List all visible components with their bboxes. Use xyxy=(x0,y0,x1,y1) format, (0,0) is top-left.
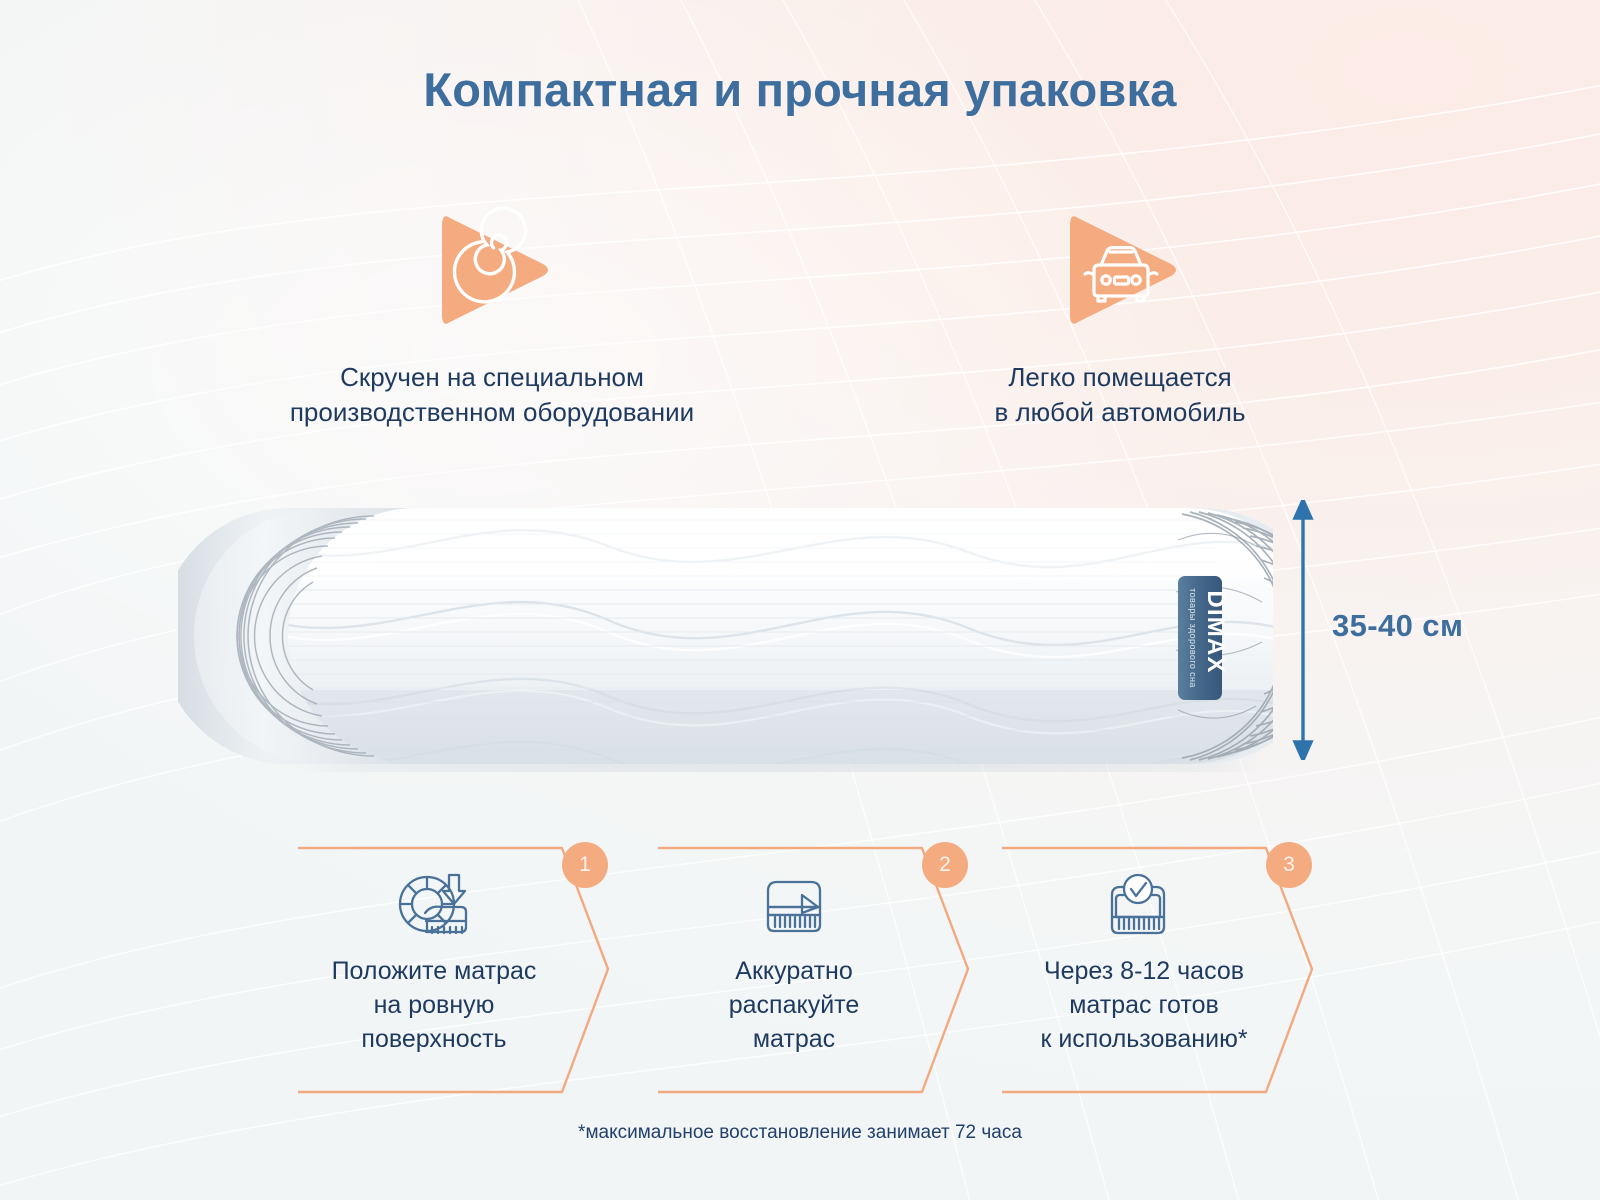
feature-caption: Легко помещается в любой автомобиль xyxy=(880,360,1360,429)
footnote-text: *максимальное восстановление занимает 72… xyxy=(0,1122,1600,1144)
step-label: Положите матрас на ровную поверхность xyxy=(288,954,580,1056)
page-title: Компактная и прочная упаковка xyxy=(0,62,1600,117)
unwrap-mattress-icon xyxy=(656,868,932,946)
svg-text:товары здорового сна: товары здорового сна xyxy=(1188,588,1198,688)
dimension-arrow-icon xyxy=(1288,500,1318,760)
feature-fits-car: Легко помещается в любой автомобиль xyxy=(880,196,1360,429)
mattress-check-icon xyxy=(1000,868,1276,946)
step-card-1: 1 Положите матрас на ровную поверхность xyxy=(296,838,618,1100)
rolled-mattress-image: DIMAX товары здорового сна xyxy=(178,500,1273,772)
step-card-3: 3 Через 8-12 часов матрас готов к исполь… xyxy=(1000,838,1322,1100)
feature-caption: Скручен на специальном производственном … xyxy=(212,360,772,429)
dimension-label: 35-40 см xyxy=(1332,608,1463,644)
dimax-brand-tag: DIMAX товары здорового сна xyxy=(1178,576,1229,700)
rolled-mattress-arrow-icon xyxy=(296,868,572,946)
infographic-canvas: Компактная и прочная упаковка Скручен на… xyxy=(0,0,1600,1200)
spiral-roll-icon xyxy=(417,196,567,344)
svg-text:DIMAX: DIMAX xyxy=(1202,590,1229,673)
step-card-2: 2 Аккуратно распакуйте матрас xyxy=(656,838,978,1100)
feature-rolled-equipment: Скручен на специальном производственном … xyxy=(212,196,772,429)
step-label: Через 8-12 часов матрас готов к использо… xyxy=(986,954,1302,1056)
step-label: Аккуратно распакуйте матрас xyxy=(648,954,940,1056)
car-icon xyxy=(1045,196,1195,344)
